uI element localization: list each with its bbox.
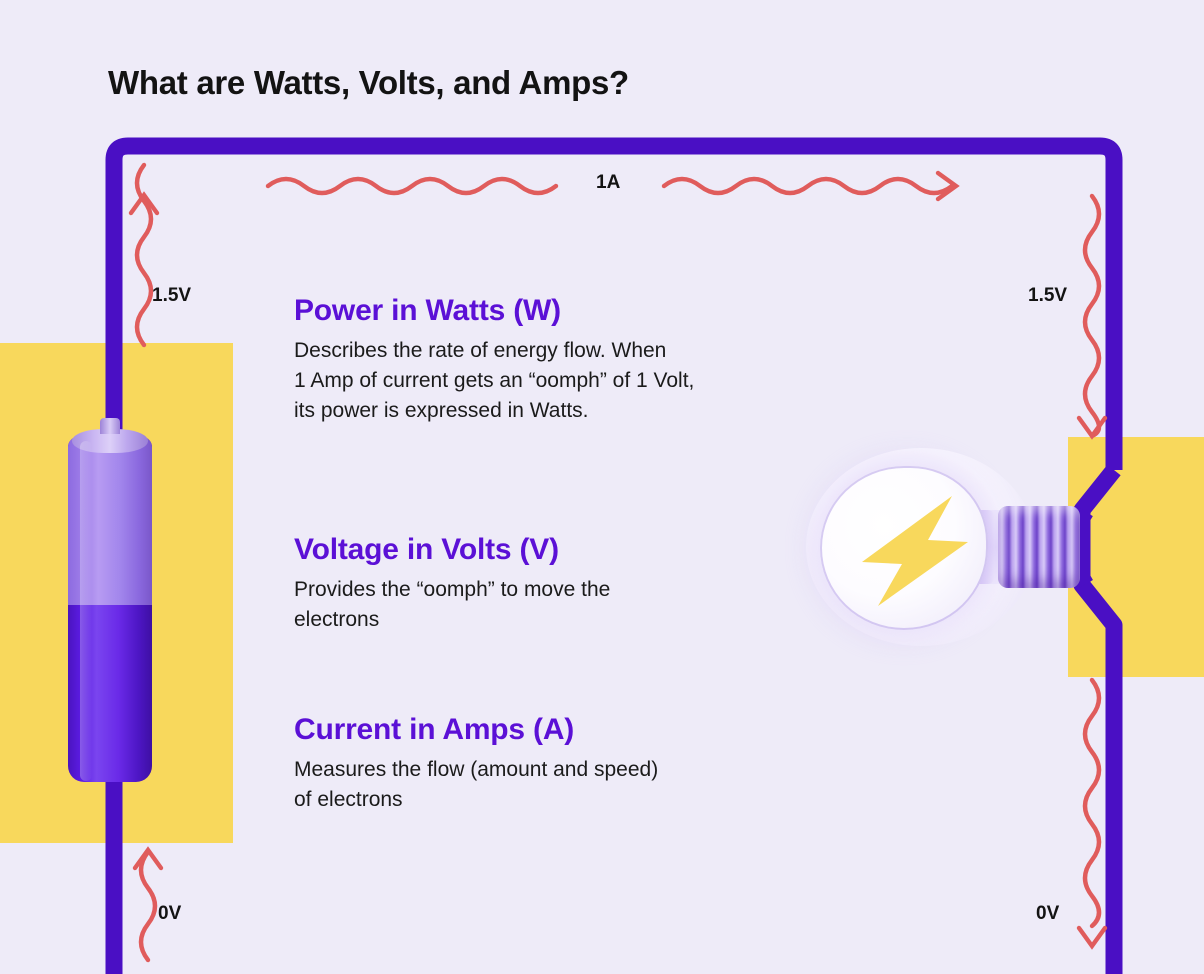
light-bulb [806,448,1106,646]
block-body-volts: Provides the “oomph” to move the electro… [294,575,610,635]
bulb-screw-base [998,506,1080,588]
block-heading-volts: Voltage in Volts (V) [294,533,610,567]
label-current-top: 1A [596,172,620,194]
label-voltage-left: 1.5V [152,285,191,307]
lightning-bolt-icon [840,490,990,610]
definition-block-amps: Current in Amps (A) Measures the flow (a… [294,713,658,815]
definition-block-volts: Voltage in Volts (V) Provides the “oomph… [294,533,610,635]
infographic-canvas: What are Watts, Volts, and Amps? [0,0,1204,974]
label-ground-left: 0V [158,903,181,925]
block-heading-watts: Power in Watts (W) [294,294,694,328]
battery-terminal [100,418,120,434]
block-body-watts: Describes the rate of energy flow. When … [294,336,694,425]
block-heading-amps: Current in Amps (A) [294,713,658,747]
definition-block-watts: Power in Watts (W) Describes the rate of… [294,294,694,425]
block-body-amps: Measures the flow (amount and speed) of … [294,755,658,815]
battery-cell [62,411,158,782]
label-ground-right: 0V [1036,903,1059,925]
battery-highlight [80,441,92,781]
label-voltage-right: 1.5V [1028,285,1067,307]
